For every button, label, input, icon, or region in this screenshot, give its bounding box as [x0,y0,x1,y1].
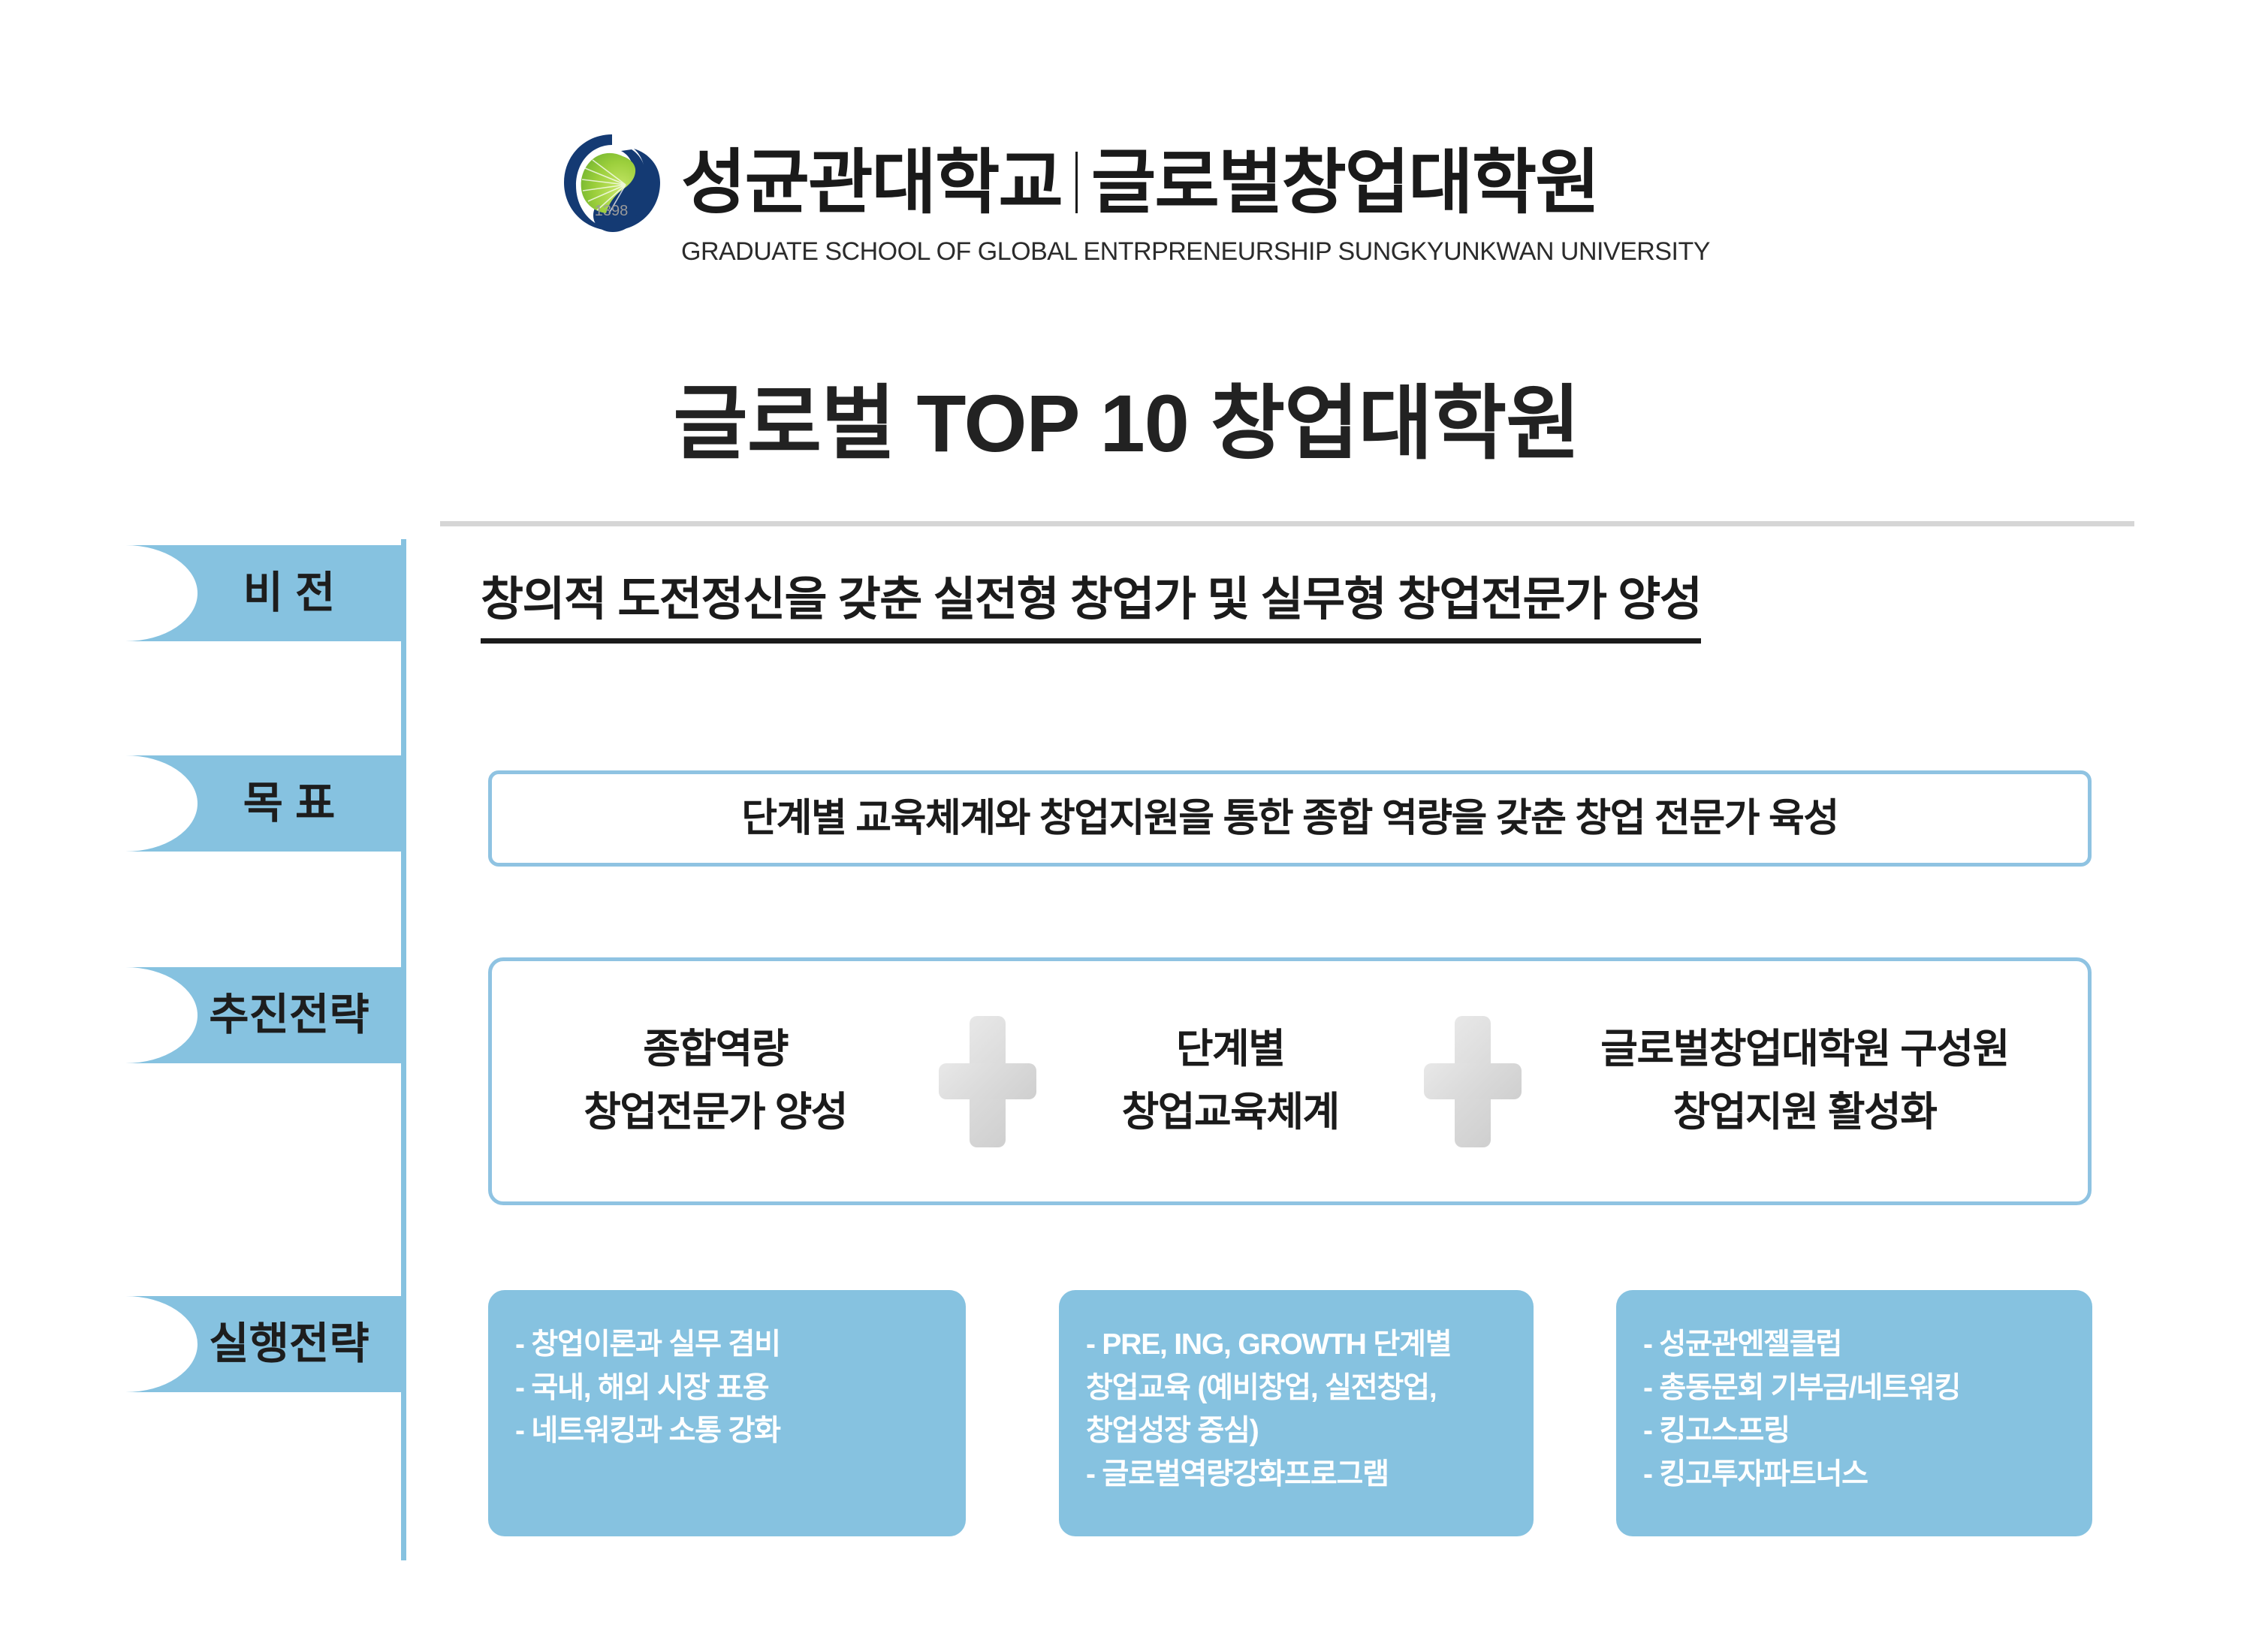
action-line: 창업성장 중심) [1086,1409,1508,1453]
strategy-item: 종합역량 창업전문가 양성 [492,1018,939,1144]
page-title: 글로벌 TOP 10 창업대학원 [0,379,2253,469]
plus-icon [939,1016,1036,1147]
wordmark-university: 성균관대학교 [681,147,1062,218]
wordmark-divider [1075,152,1078,213]
action-line: - 글로벌역량강화프로그램 [1086,1453,1508,1497]
action-box: - PRE, ING, GROWTH 단계별 창업교육 (예비창업, 실전창업,… [1059,1290,1534,1536]
ribbon-tag-goal: 목 표 [126,755,406,852]
action-box: - 창업이론과 실무 겸비 - 국내, 해외 시장 표용 - 네트워킹과 소통 … [488,1290,966,1536]
strategy-item-line1: 글로벌창업대학원 구성원 [1600,1018,2008,1081]
strategy-item: 단계별 창업교육체계 [1036,1018,1424,1144]
strategy-item: 글로벌창업대학원 구성원 창업지원 활성화 [1522,1018,2088,1144]
logo-wordmark: 성균관대학교 글로벌창업대학원 [681,147,1599,218]
logo-row: 1398 성균관대학교 글로벌창업대학원 [559,131,1599,233]
action-line: - 창업이론과 실무 겸비 [515,1323,940,1367]
logo-subtitle-english: GRADUATE SCHOOL OF GLOBAL ENTRPRENEURSHI… [681,237,1710,267]
wordmark-school: 글로벌창업대학원 [1091,147,1599,218]
strategy-box: 종합역량 창업전문가 양성 단계별 창업교육체계 글로벌창업대학원 구성원 창업… [488,957,2092,1205]
ribbon-tag-strategy: 추진전략 [126,967,406,1063]
ribbon-label-action: 실행전략 [209,1322,369,1366]
action-line: - 성균관엔젤클럽 [1643,1323,2067,1367]
strategy-item-line1: 단계별 [1176,1018,1285,1081]
strategy-item-line2: 창업교육체계 [1122,1081,1339,1144]
vision-statement-text: 창의적 도전정신을 갖춘 실전형 창업가 및 실무형 창업전문가 양성 [481,572,1701,644]
goal-statement-text: 단계별 교육체계와 창업지원을 통한 종합 역량을 갖춘 창업 전문가 육성 [741,799,1838,838]
action-line: - 국내, 해외 시장 표용 [515,1367,940,1410]
strategy-item-line1: 종합역량 [643,1018,788,1081]
slide-canvas: 1398 성균관대학교 글로벌창업대학원 GRADUATE SCHOOL OF … [0,0,2253,1652]
action-box: - 성균관엔젤클럽 - 총동문회 기부금/네트워킹 - 킹고스프링 - 킹고투자… [1616,1290,2092,1536]
goal-box: 단계별 교육체계와 창업지원을 통한 종합 역량을 갖춘 창업 전문가 육성 [488,770,2092,867]
ribbon-label-strategy: 추진전략 [209,993,369,1037]
ribbon-label-goal: 목 표 [243,782,336,825]
action-line: - 킹고스프링 [1643,1409,2067,1453]
action-line: - 총동문회 기부금/네트워킹 [1643,1367,2067,1410]
action-line: - PRE, ING, GROWTH 단계별 [1086,1323,1508,1367]
ribbon-label-vision: 비 전 [243,571,336,615]
institution-logo-block: 1398 성균관대학교 글로벌창업대학원 GRADUATE SCHOOL OF … [559,131,1776,270]
strategy-item-line2: 창업전문가 양성 [584,1081,847,1144]
title-divider [440,521,2134,526]
action-line: 창업교육 (예비창업, 실전창업, [1086,1367,1508,1410]
ribbon-tag-vision: 비 전 [126,545,406,641]
action-line: - 킹고투자파트너스 [1643,1453,2067,1497]
plus-icon [1424,1016,1522,1147]
plus-icon-horizontal-bar [1424,1063,1522,1099]
plus-icon-horizontal-bar [939,1063,1036,1099]
ribbon-tag-action: 실행전략 [126,1296,406,1392]
strategy-item-line2: 창업지원 활성화 [1673,1081,1937,1144]
logo-year-text: 1398 [595,203,629,219]
action-line: - 네트워킹과 소통 강화 [515,1409,940,1453]
skku-ginkgo-s-emblem-icon: 1398 [559,130,665,235]
